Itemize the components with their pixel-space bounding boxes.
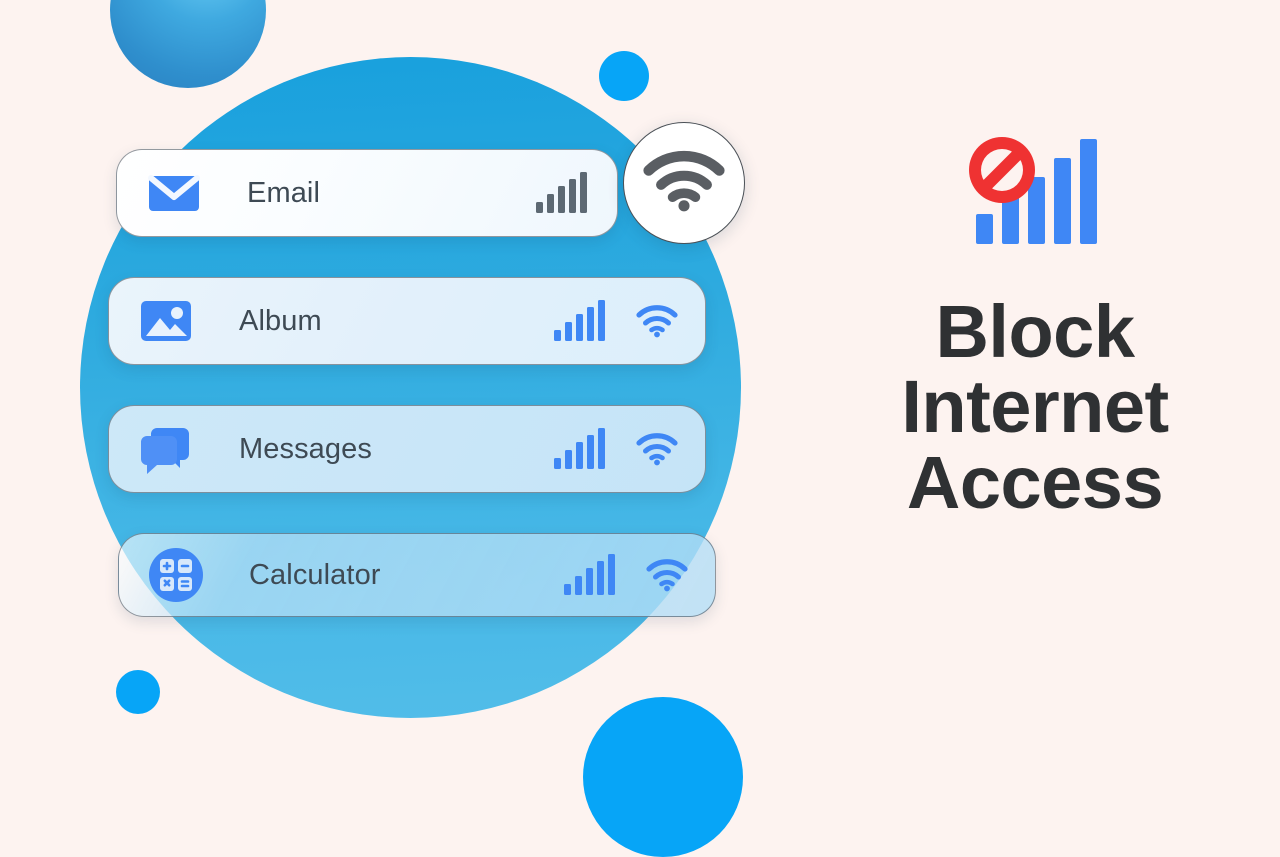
signal-bars-icon [536,173,587,213]
app-card-messages[interactable]: Messages [108,405,706,493]
page-title: Block Internet Access [825,294,1245,520]
no-entry-icon [969,137,1035,203]
app-card-label: Email [247,177,320,210]
chat-bubbles-icon [137,420,195,478]
card-status-group [554,429,679,469]
signal-bars-icon [554,301,605,341]
headline-line-1: Block [825,294,1245,369]
wifi-icon [641,147,727,220]
calculator-icon [147,546,205,604]
signal-bars-icon [554,429,605,469]
signal-bars-icon [564,555,615,595]
wifi-icon [635,304,679,338]
wifi-icon [645,558,689,592]
app-card-calculator[interactable]: Calculator [118,533,716,617]
photo-icon [137,292,195,350]
wifi-icon [635,432,679,466]
app-list: Email Album [0,0,780,768]
wifi-badge[interactable] [623,122,745,244]
card-status-group [564,555,689,595]
app-card-album[interactable]: Album [108,277,706,365]
blocked-signal-icon [960,130,1110,250]
app-card-label: Messages [239,433,372,466]
envelope-icon [145,164,203,222]
headline-line-2: Internet [825,369,1245,444]
message-panel: Block Internet Access [790,0,1280,768]
card-status-group [554,301,679,341]
card-status-group [536,173,587,213]
poster-canvas: Email Album [0,0,1280,768]
app-card-label: Album [239,305,322,338]
app-card-email[interactable]: Email [116,149,618,237]
headline-line-3: Access [825,445,1245,520]
app-card-label: Calculator [249,559,381,592]
